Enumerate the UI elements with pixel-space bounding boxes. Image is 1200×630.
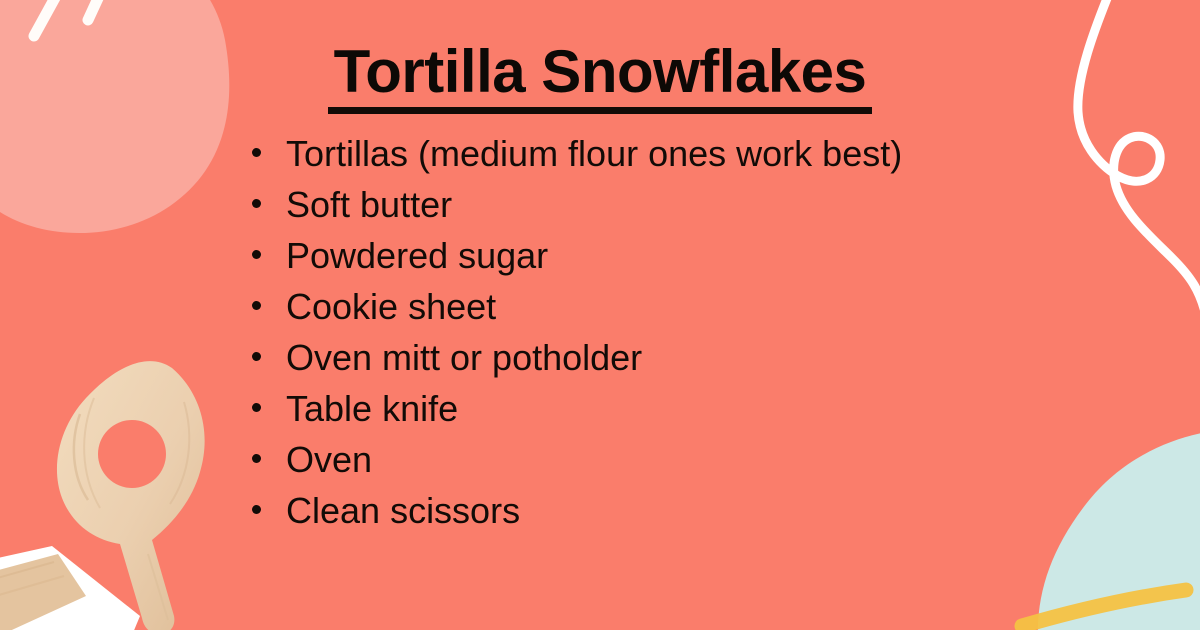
poster-canvas: Tortilla Snowflakes Tortillas (medium fl… xyxy=(0,0,1200,630)
list-item: Cookie sheet xyxy=(248,281,902,332)
bullet-icon xyxy=(252,250,261,259)
bullet-icon xyxy=(252,352,261,361)
bullet-icon xyxy=(252,199,261,208)
list-item: Powdered sugar xyxy=(248,230,902,281)
bullet-icon xyxy=(252,505,261,514)
bullet-icon xyxy=(252,148,261,157)
list-item: Table knife xyxy=(248,383,902,434)
list-item: Oven mitt or potholder xyxy=(248,332,902,383)
list-item-label: Clean scissors xyxy=(286,490,520,531)
list-item: Clean scissors xyxy=(248,485,902,536)
page-title-text: Tortilla Snowflakes xyxy=(328,40,873,114)
list-item: Oven xyxy=(248,434,902,485)
content-layer: Tortilla Snowflakes Tortillas (medium fl… xyxy=(0,0,1200,630)
list-item-label: Soft butter xyxy=(286,184,452,225)
ingredients-list: Tortillas (medium flour ones work best) … xyxy=(248,128,902,536)
page-title: Tortilla Snowflakes xyxy=(0,40,1200,114)
list-item-label: Oven mitt or potholder xyxy=(286,337,642,378)
bullet-icon xyxy=(252,403,261,412)
list-item: Tortillas (medium flour ones work best) xyxy=(248,128,902,179)
list-item: Soft butter xyxy=(248,179,902,230)
bullet-icon xyxy=(252,301,261,310)
list-item-label: Cookie sheet xyxy=(286,286,496,327)
list-item-label: Powdered sugar xyxy=(286,235,548,276)
list-item-label: Table knife xyxy=(286,388,458,429)
list-item-label: Tortillas (medium flour ones work best) xyxy=(286,133,902,174)
list-item-label: Oven xyxy=(286,439,372,480)
bullet-icon xyxy=(252,454,261,463)
